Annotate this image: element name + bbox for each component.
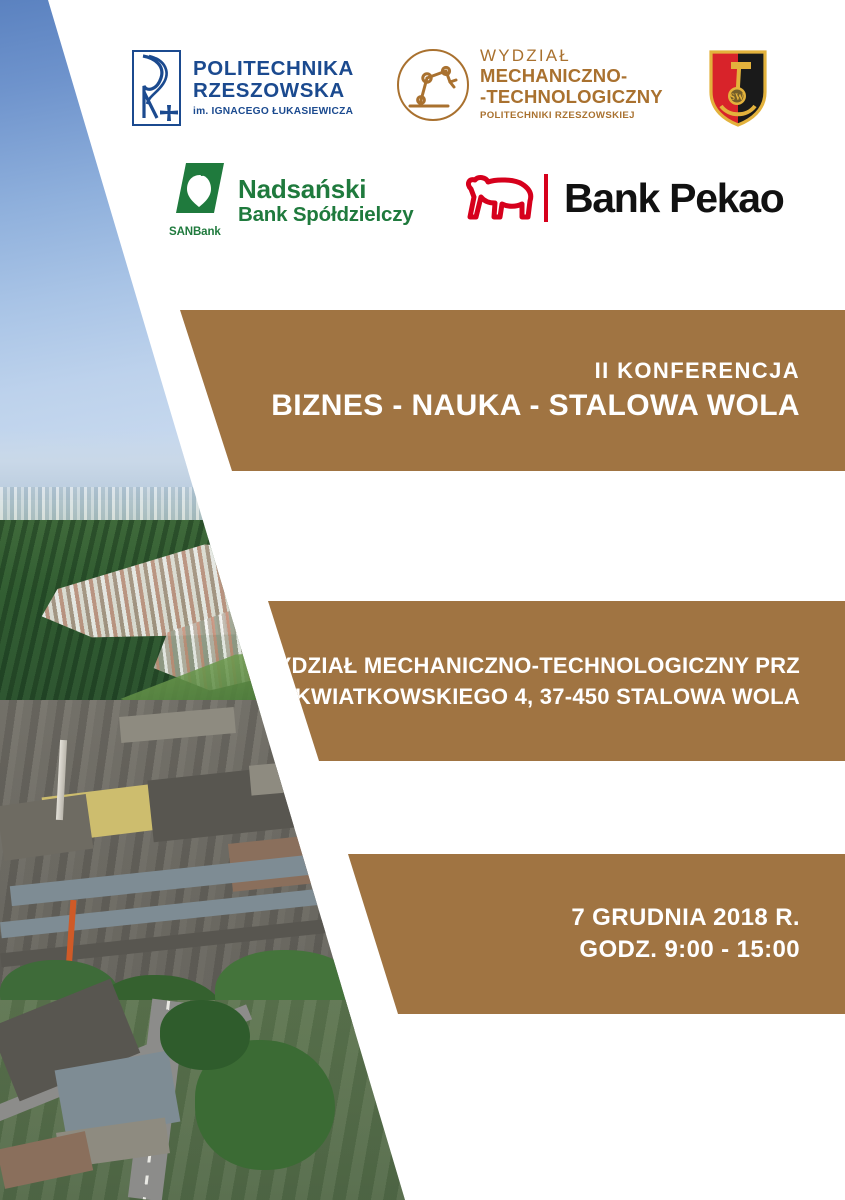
politechnika-rzeszowska-logo: POLITECHNIKA RZESZOWSKA im. IGNACEGO ŁUK… [132,50,354,126]
conference-edition: II KONFERENCJA [595,356,800,386]
wydzial-line4: POLITECHNIKI RZESZOWSKIEJ [480,109,663,123]
nadsanski-bank-spoldzielczy-logo: SANBank Nadsański Bank Spółdzielczy [172,165,413,237]
politechnika-line3: im. IGNACEGO ŁUKASIEWICZA [193,104,354,119]
time-line: GODZ. 9:00 - 15:00 [579,934,800,966]
robot-arm-icon [397,49,469,121]
wydzial-wordmark: WYDZIAŁ MECHANICZNO- -TECHNOLOGICZNY POL… [480,46,663,123]
venue-line2: UL. KWIATKOWSKIEGO 4, 37-450 STALOWA WOL… [252,681,800,712]
politechnika-line2: RZESZOWSKA [193,80,354,102]
sponsor-logo-row-top: POLITECHNIKA RZESZOWSKA im. IGNACEGO ŁUK… [0,40,845,150]
stalowa-wola-coat-of-arms: SW [707,48,769,128]
photo-trees [160,1000,250,1070]
pekao-wordmark: Bank Pekao [564,176,783,220]
pekao-divider [544,174,548,222]
venue-line1: WYDZIAŁ MECHANICZNO-TECHNOLOGICZNY PRZ [256,650,800,681]
wydzial-line1: WYDZIAŁ [480,46,663,65]
wydzial-mechaniczno-technologiczny-logo: WYDZIAŁ MECHANICZNO- -TECHNOLOGICZNY POL… [397,46,663,123]
pr-monogram-icon [132,50,181,126]
bison-icon [462,173,540,223]
politechnika-wordmark: POLITECHNIKA RZESZOWSKA im. IGNACEGO ŁUK… [193,58,354,119]
politechnika-line1: POLITECHNIKA [193,58,354,80]
svg-text:SW: SW [730,92,744,102]
date-line: 7 GRUDNIA 2018 R. [571,902,800,934]
shield-hammer-icon: SW [707,48,769,128]
sanbank-line1: Nadsański [238,176,413,203]
sanbank-line2: Bank Spółdzielczy [238,203,413,227]
conference-title: BIZNES - NAUKA - STALOWA WOLA [271,387,800,425]
wydzial-line2: MECHANICZNO- [480,65,663,86]
sponsor-logo-row-bottom: SANBank Nadsański Bank Spółdzielczy Bank… [0,163,845,253]
wydzial-line3: -TECHNOLOGICZNY [480,86,663,107]
nadsanski-wordmark: Nadsański Bank Spółdzielczy [238,176,413,227]
apple-leaf-icon: SANBank [172,165,228,237]
bank-pekao-logo: Bank Pekao [462,173,783,223]
sanbank-sub: SANBank [169,226,221,238]
